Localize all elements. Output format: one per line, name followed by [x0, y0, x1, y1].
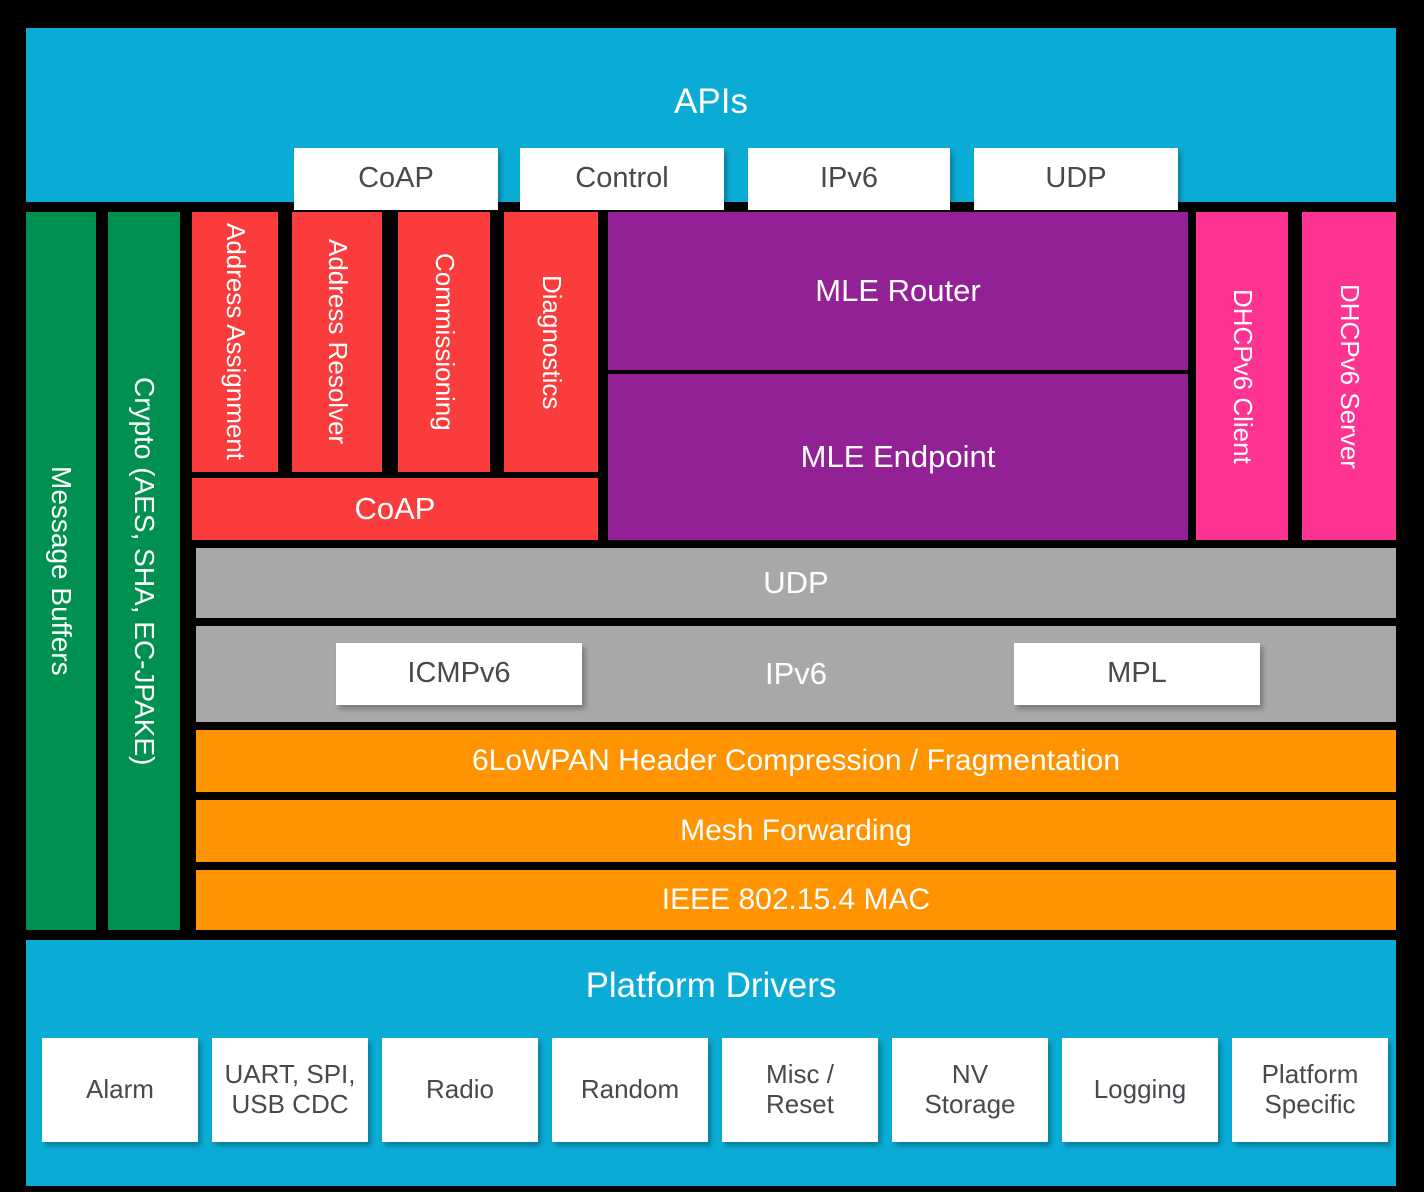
driver-card-logging[interactable]: Logging: [1062, 1038, 1218, 1142]
block-crypto[interactable]: Crypto (AES, SHA, EC-JPAKE): [108, 212, 180, 930]
driver-card-random[interactable]: Random: [552, 1038, 708, 1142]
block-coap[interactable]: CoAP: [192, 478, 598, 540]
block-mesh-forwarding[interactable]: Mesh Forwarding: [196, 800, 1396, 862]
block-diagnostics[interactable]: Diagnostics: [504, 212, 598, 472]
block-commissioning[interactable]: Commissioning: [398, 212, 490, 472]
block-mle-endpoint[interactable]: MLE Endpoint: [608, 374, 1188, 540]
block-mle-router[interactable]: MLE Router: [608, 212, 1188, 370]
card-icmpv6[interactable]: ICMPv6: [336, 643, 582, 705]
driver-card-platform-specific[interactable]: PlatformSpecific: [1232, 1038, 1388, 1142]
block-dhcpv6-server[interactable]: DHCPv6 Server: [1302, 212, 1396, 540]
block-udp[interactable]: UDP: [196, 548, 1396, 618]
driver-card-misc-reset[interactable]: Misc /Reset: [722, 1038, 878, 1142]
api-card-coap[interactable]: CoAP: [294, 148, 498, 210]
block-address-resolver[interactable]: Address Resolver: [292, 212, 382, 472]
architecture-diagram: APIs CoAP Control IPv6 UDP Message Buffe…: [0, 0, 1424, 1192]
driver-card-alarm[interactable]: Alarm: [42, 1038, 198, 1142]
driver-card-radio[interactable]: Radio: [382, 1038, 538, 1142]
block-dhcpv6-client[interactable]: DHCPv6 Client: [1196, 212, 1288, 540]
api-card-control[interactable]: Control: [520, 148, 724, 210]
api-card-udp[interactable]: UDP: [974, 148, 1178, 210]
driver-card-uart-spi-usb-cdc[interactable]: UART, SPI,USB CDC: [212, 1038, 368, 1142]
apis-band: APIs CoAP Control IPv6 UDP: [26, 28, 1396, 202]
card-mpl[interactable]: MPL: [1014, 643, 1260, 705]
driver-card-nv-storage[interactable]: NVStorage: [892, 1038, 1048, 1142]
block-address-assignment[interactable]: Address Assignment: [192, 212, 278, 472]
platform-drivers-title: Platform Drivers: [26, 962, 1396, 1010]
block-6lowpan[interactable]: 6LoWPAN Header Compression / Fragmentati…: [196, 730, 1396, 792]
apis-title: APIs: [26, 80, 1396, 124]
block-ieee-802154-mac[interactable]: IEEE 802.15.4 MAC: [196, 870, 1396, 930]
api-card-ipv6[interactable]: IPv6: [748, 148, 950, 210]
block-ipv6[interactable]: IPv6 ICMPv6 MPL: [196, 626, 1396, 722]
block-message-buffers[interactable]: Message Buffers: [26, 212, 96, 930]
